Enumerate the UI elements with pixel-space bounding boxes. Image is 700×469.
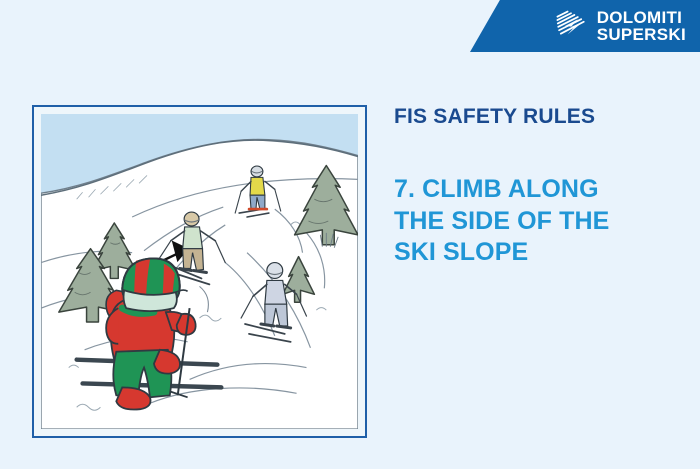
page-title: 7. CLIMB ALONG THE SIDE OF THE SKI SLOPE bbox=[394, 174, 679, 269]
helmet-grey bbox=[267, 263, 283, 279]
illustration-panel bbox=[32, 105, 367, 438]
dolomiti-superski-stripes-logo-icon bbox=[554, 9, 588, 43]
headline-line-1: 7. CLIMB ALONG bbox=[394, 174, 679, 206]
brand-wordmark: DOLOMITI SUPERSKI bbox=[597, 9, 686, 43]
jacket-green bbox=[183, 227, 203, 249]
brand-line-1: DOLOMITI bbox=[597, 9, 686, 26]
jacket-grey bbox=[265, 280, 287, 304]
header-band: DOLOMITI SUPERSKI bbox=[0, 0, 700, 52]
header-blue-shape bbox=[470, 0, 700, 52]
text-column: FIS SAFETY RULES 7. CLIMB ALONG THE SIDE… bbox=[394, 105, 679, 269]
brand-line-2: SUPERSKI bbox=[597, 26, 686, 43]
illustration-canvas bbox=[41, 114, 358, 429]
jacket-yellow bbox=[250, 177, 265, 195]
headline-line-2: THE SIDE OF THE bbox=[394, 206, 679, 238]
headline-line-3: SKI SLOPE bbox=[394, 237, 679, 269]
brand-logo[interactable]: DOLOMITI SUPERSKI bbox=[554, 5, 686, 47]
kicker-label: FIS SAFETY RULES bbox=[394, 105, 679, 128]
helmet-green bbox=[184, 212, 199, 226]
